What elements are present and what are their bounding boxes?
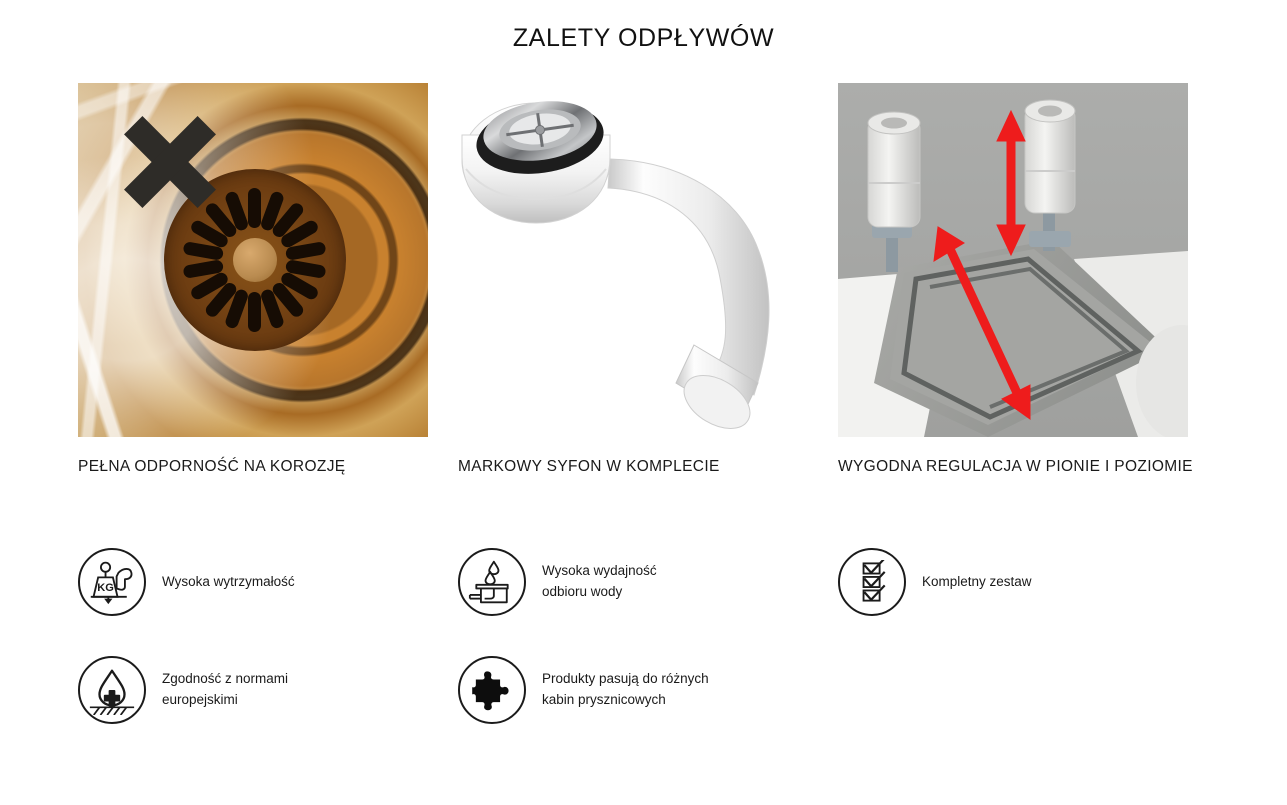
adjustable-drain-photo	[838, 83, 1188, 437]
feature-complete-set: Kompletny zestaw	[838, 548, 1188, 616]
siphon-svg	[458, 83, 808, 437]
water-flow-icon	[458, 548, 526, 616]
page-title: ZALETY ODPŁYWÓW	[0, 24, 1287, 53]
features-row-1: KG Wysoka wytrzymałość	[78, 548, 1188, 616]
features-row-2: Zgodność z normami europejskimi Produkty…	[78, 656, 1188, 724]
svg-text:KG: KG	[97, 582, 114, 594]
feature-label-eu-standards: Zgodność z normami europejskimi	[162, 669, 288, 711]
feature-label-durability: Wysoka wytrzymałość	[162, 572, 295, 593]
advantage-card-siphon: MARKOWY SYFON W KOMPLECIE	[458, 83, 808, 476]
puzzle-piece-icon	[458, 656, 526, 724]
x-mark-icon	[114, 106, 226, 218]
weight-kg-glyph: KG	[88, 558, 136, 606]
corroded-drain-photo	[78, 83, 428, 437]
advantage-card-adjustment: WYGODNA REGULACJA W PIONIE I POZIOMIE	[838, 83, 1188, 476]
feature-durability: KG Wysoka wytrzymałość	[78, 548, 428, 616]
advantage-card-corrosion: PEŁNA ODPORNOŚĆ NA KOROZJĘ	[78, 83, 428, 476]
water-drop-standard-glyph	[87, 665, 137, 715]
feature-universal-fit: Produkty pasują do różnych kabin pryszni…	[458, 656, 808, 724]
feature-label-water-capacity: Wysoka wydajność odbioru wody	[542, 561, 657, 603]
checklist-icon	[838, 548, 906, 616]
features-grid: KG Wysoka wytrzymałość	[78, 548, 1188, 724]
drain-hub	[233, 238, 277, 282]
puzzle-piece-glyph	[471, 669, 513, 711]
siphon-photo	[458, 83, 808, 437]
feature-water-capacity: Wysoka wydajność odbioru wody	[458, 548, 808, 616]
feature-label-complete-set: Kompletny zestaw	[922, 572, 1032, 593]
feature-label-universal-fit: Produkty pasują do różnych kabin pryszni…	[542, 669, 709, 711]
weight-kg-icon: KG	[78, 548, 146, 616]
advantage-caption-corrosion: PEŁNA ODPORNOŚĆ NA KOROZJĘ	[78, 458, 428, 476]
water-drop-standard-icon	[78, 656, 146, 724]
advantage-caption-siphon: MARKOWY SYFON W KOMPLECIE	[458, 458, 808, 476]
advantage-cards-row: PEŁNA ODPORNOŚĆ NA KOROZJĘ	[78, 83, 1188, 476]
advantage-caption-adjustment: WYGODNA REGULACJA W PIONIE I POZIOMIE	[838, 458, 1188, 476]
siphon-illustration	[458, 83, 808, 437]
water-flow-glyph	[468, 558, 516, 606]
adjustment-scene	[838, 83, 1188, 437]
checklist-glyph	[850, 560, 894, 604]
feature-eu-standards: Zgodność z normami europejskimi	[78, 656, 428, 724]
adjustment-svg	[838, 83, 1188, 437]
